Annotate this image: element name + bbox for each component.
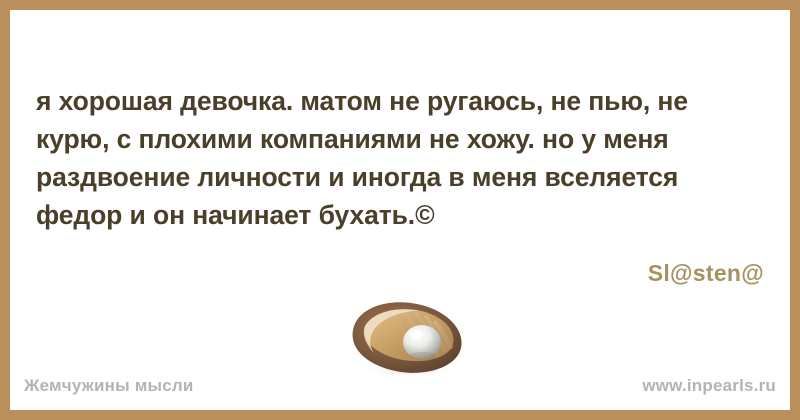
quote-text: я хорошая девочка. матом не ругаюсь, не … — [36, 82, 764, 234]
quote-card: я хорошая девочка. матом не ругаюсь, не … — [0, 0, 800, 420]
author-signature: Sl@sten@ — [648, 260, 764, 286]
footer-site-link[interactable]: www.inpearls.ru — [642, 376, 776, 396]
footer-bar: Жемчужины мысли www.inpearls.ru — [10, 366, 790, 410]
footer-brand-label: Жемчужины мысли — [24, 376, 194, 396]
